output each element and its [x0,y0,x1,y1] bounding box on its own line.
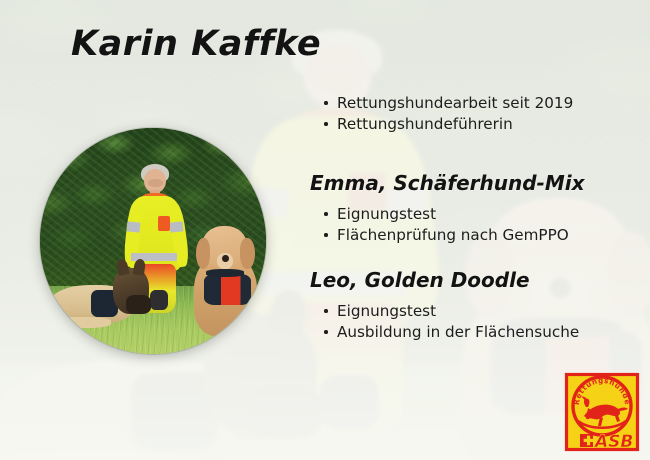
bullet-dot-icon [324,122,328,126]
golden-doodle-dog [191,232,259,336]
logo-asb-text: ASB [593,432,633,452]
bullet-dot-icon [324,309,328,313]
handler-circle-photo [40,128,266,354]
page-title: Karin Kaffke [71,24,321,64]
list-item-label: Eignungstest [337,205,436,223]
list-item: Flächenprüfung nach GemPPO [322,225,569,246]
bullet-dot-icon [324,212,328,216]
list-item-label: Rettungshundeführerin [337,115,513,133]
emma-bullet-list: Eignungstest Flächenprüfung nach GemPPO [322,204,569,246]
section-heading-leo: Leo, Golden Doodle [310,268,530,292]
list-item-label: Eignungstest [337,302,436,320]
circle-photo-scene [40,128,266,354]
list-item-label: Rettungshundearbeit seit 2019 [337,94,573,112]
german-shepherd-dog [49,268,153,331]
asb-rettungshunde-logo: Rettungshunde ASB [564,372,640,452]
list-item: Ausbildung in der Flächensuche [322,322,579,343]
bullet-dot-icon [324,330,328,334]
list-item: Rettungshundeführerin [322,114,573,135]
list-item: Rettungshundearbeit seit 2019 [322,93,573,114]
slide-canvas: Karin Kaffke Rettungshundearbeit seit 20… [0,0,650,460]
list-item-label: Ausbildung in der Flächensuche [337,323,579,341]
list-item: Eignungstest [322,204,569,225]
list-item: Eignungstest [322,301,579,322]
section-heading-emma: Emma, Schäferhund-Mix [310,171,585,195]
intro-bullet-list: Rettungshundearbeit seit 2019 Rettungshu… [322,93,573,135]
leo-bullet-list: Eignungstest Ausbildung in der Flächensu… [322,301,579,343]
list-item-label: Flächenprüfung nach GemPPO [337,226,569,244]
bullet-dot-icon [324,101,328,105]
bullet-dot-icon [324,233,328,237]
